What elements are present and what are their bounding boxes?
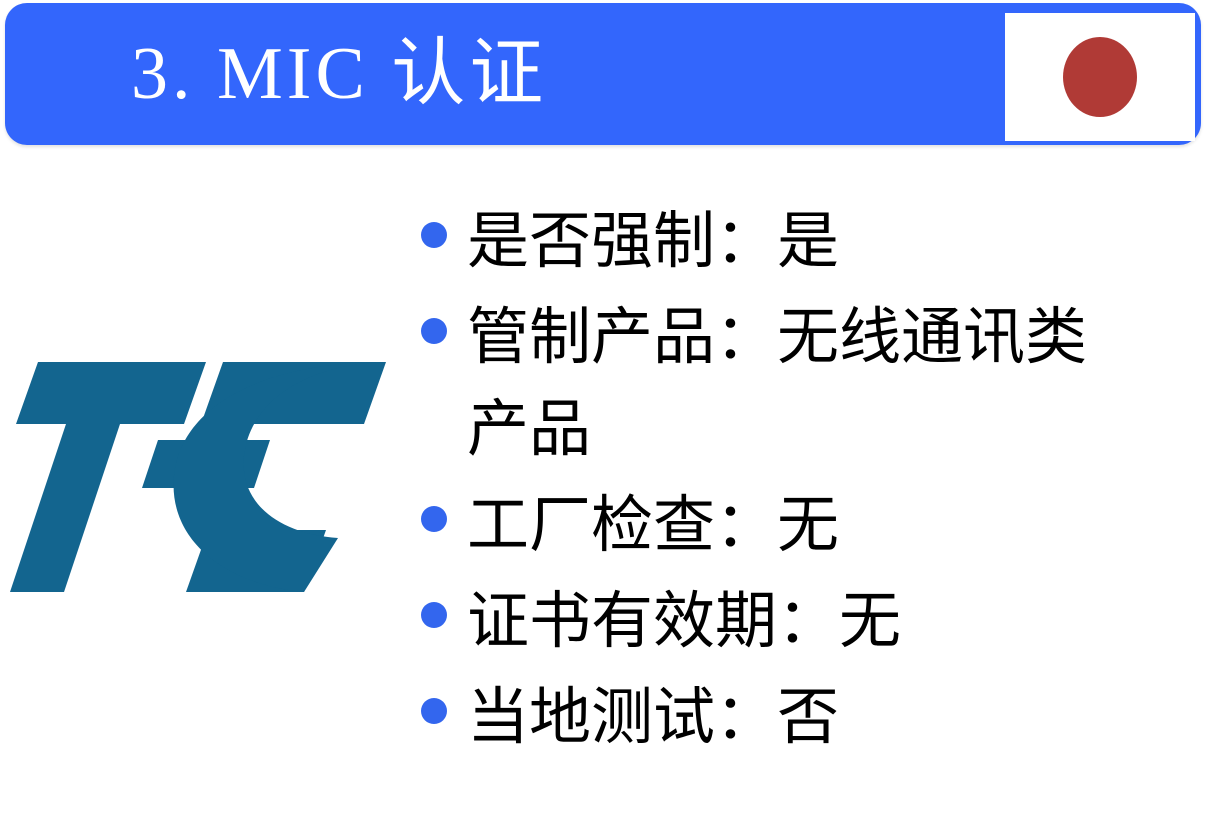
tec-logo — [8, 352, 420, 602]
list-item-label: 管制产品：无线通讯类产品 — [467, 292, 1107, 476]
list-item-label: 工厂检查：无 — [467, 480, 1195, 572]
slide-canvas: 3. MIC 认证 是否强制：是 — [0, 0, 1209, 813]
list-item: 当地测试：否 — [415, 672, 1195, 764]
bullet-list: 是否强制：是 管制产品：无线通讯类产品 工厂检查：无 证书有效期：无 当地测试：… — [415, 196, 1195, 768]
list-item: 工厂检查：无 — [415, 480, 1195, 572]
bullet-dot-icon — [421, 222, 447, 248]
header-bar: 3. MIC 认证 — [5, 3, 1201, 145]
list-item-label: 证书有效期：无 — [467, 576, 1195, 668]
list-item: 管制产品：无线通讯类产品 — [415, 292, 1195, 476]
bullet-dot-icon — [421, 506, 447, 532]
flag-red-disc-icon — [1063, 37, 1137, 117]
list-item: 证书有效期：无 — [415, 576, 1195, 668]
list-item-label: 当地测试：否 — [467, 672, 1195, 764]
bullet-dot-icon — [421, 602, 447, 628]
page-title: 3. MIC 认证 — [131, 20, 547, 128]
japan-flag — [1005, 13, 1195, 141]
bullet-dot-icon — [421, 318, 447, 344]
list-item: 是否强制：是 — [415, 196, 1195, 288]
bullet-dot-icon — [421, 698, 447, 724]
list-item-label: 是否强制：是 — [467, 196, 1195, 288]
